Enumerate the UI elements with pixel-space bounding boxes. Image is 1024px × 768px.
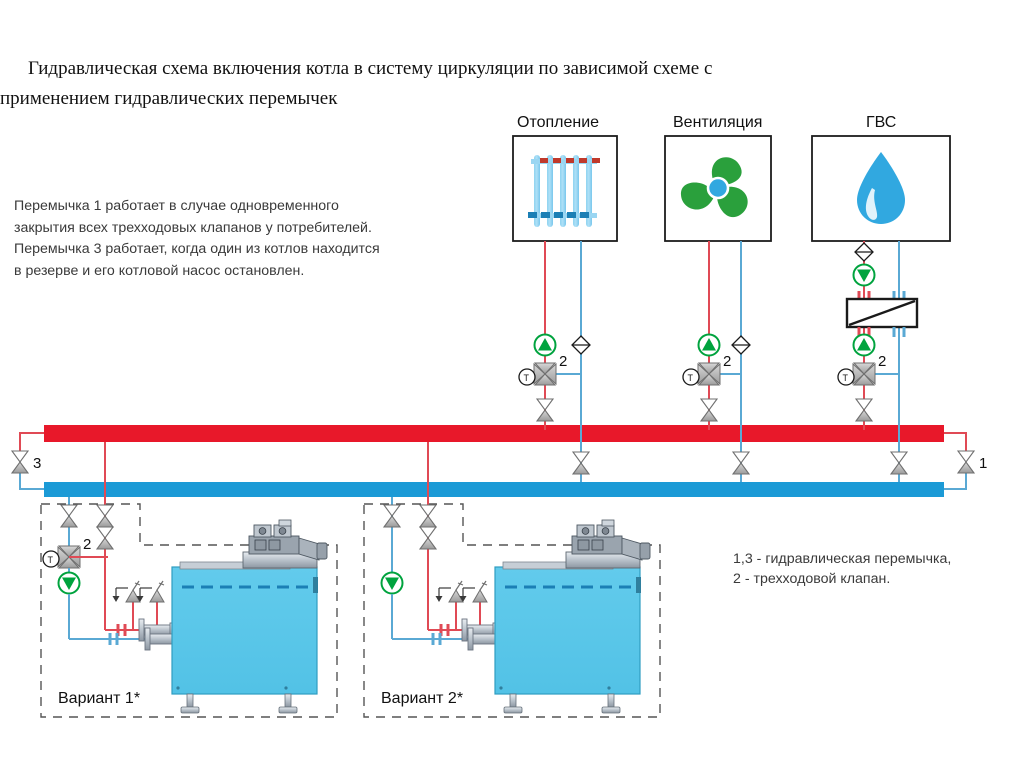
callout-three-way-heating: 2 xyxy=(559,353,567,370)
gate-valve-return-heating[interactable] xyxy=(573,452,589,474)
check-valve-dhw-top[interactable] xyxy=(855,243,873,261)
gate-valve-supply-variant-1-a[interactable] xyxy=(97,505,113,527)
gate-valve-supply-variant-2-b[interactable] xyxy=(420,527,436,549)
svg-text:T: T xyxy=(48,555,54,565)
boiler-variant-2 xyxy=(462,520,650,713)
boiler-burner-variant-1 xyxy=(243,520,327,568)
pump-dhw-circuit[interactable] xyxy=(854,265,875,286)
gate-valve-supply-variant-2-a[interactable] xyxy=(420,505,436,527)
boiler-foot-variant-2-right xyxy=(602,694,620,713)
callout-three-way-ventilation: 2 xyxy=(723,353,731,370)
check-valve-heating[interactable] xyxy=(572,336,590,354)
svg-text:T: T xyxy=(688,373,694,383)
three-way-valve-dhw[interactable]: T xyxy=(838,363,875,385)
riser-dhw: T 2 xyxy=(838,241,917,482)
gate-valve-jumper-3[interactable] xyxy=(12,451,28,473)
boiler-foot-variant-1-right xyxy=(279,694,297,713)
supply-main-header xyxy=(44,425,944,442)
svg-text:T: T xyxy=(524,373,530,383)
callout-jumper-1: 1 xyxy=(979,455,987,472)
callout-three-way-dhw: 2 xyxy=(878,353,886,370)
three-way-valve-heating[interactable]: T xyxy=(519,363,556,385)
gate-valve-supply-variant-1-b[interactable] xyxy=(97,527,113,549)
safety-relief-valve-variant-1-a[interactable] xyxy=(113,581,141,602)
safety-relief-valve-variant-1-b[interactable] xyxy=(137,581,165,602)
pump-heating[interactable] xyxy=(535,335,556,356)
variant-block-1: T 2 xyxy=(41,497,337,717)
pump-boiler-variant-1[interactable] xyxy=(59,573,80,594)
schematic-svg: 3 1 T 2 xyxy=(0,0,1024,768)
boiler-variant-1 xyxy=(139,520,327,713)
pump-dhw[interactable] xyxy=(854,335,875,356)
gate-valve-return-variant-1[interactable] xyxy=(61,505,77,527)
hydraulic-jumper-1: 1 xyxy=(944,433,987,489)
check-valve-ventilation[interactable] xyxy=(732,336,750,354)
boiler-foot-variant-2-left xyxy=(504,694,522,713)
boiler-burner-variant-2 xyxy=(566,520,650,568)
gate-valve-return-variant-2[interactable] xyxy=(384,505,400,527)
gate-valve-heating[interactable] xyxy=(537,399,553,421)
svg-text:T: T xyxy=(843,373,849,383)
gate-valve-dhw[interactable] xyxy=(856,399,872,421)
diagram-canvas: Гидравлическая схема включения котла в с… xyxy=(0,0,1024,768)
callout-jumper-3: 3 xyxy=(33,455,41,472)
consumer-box-dhw xyxy=(812,136,950,241)
return-main-header xyxy=(44,482,944,497)
heat-exchanger xyxy=(847,299,917,327)
safety-relief-valve-variant-2-b[interactable] xyxy=(460,581,488,602)
consumer-box-heating xyxy=(513,136,617,241)
riser-heating: T 2 xyxy=(519,241,590,482)
three-way-valve-ventilation[interactable]: T xyxy=(683,363,720,385)
gate-valve-return-ventilation[interactable] xyxy=(733,452,749,474)
callout-three-way-variant-1: 2 xyxy=(83,536,91,553)
pump-boiler-variant-2[interactable] xyxy=(382,573,403,594)
consumer-box-ventilation xyxy=(665,136,771,241)
pump-ventilation[interactable] xyxy=(699,335,720,356)
safety-relief-valve-variant-2-a[interactable] xyxy=(436,581,464,602)
hydraulic-jumper-3: 3 xyxy=(12,433,44,489)
gate-valve-ventilation[interactable] xyxy=(701,399,717,421)
gate-valve-jumper-1[interactable] xyxy=(958,451,974,473)
riser-ventilation: T 2 xyxy=(683,241,750,482)
variant-block-2 xyxy=(364,497,660,717)
gate-valve-return-dhw[interactable] xyxy=(891,452,907,474)
boiler-foot-variant-1-left xyxy=(181,694,199,713)
radiator-icon xyxy=(528,155,600,227)
